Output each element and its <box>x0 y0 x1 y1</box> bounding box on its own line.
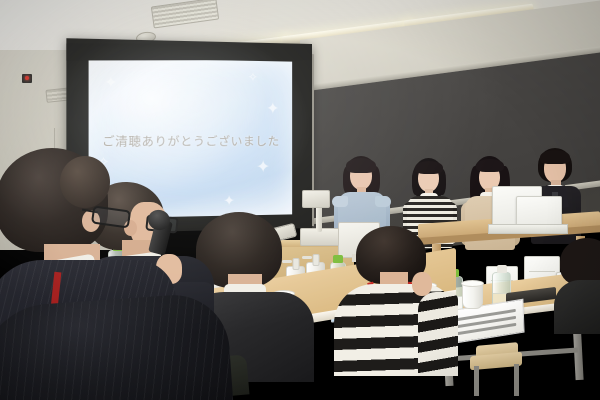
paper-cup-4 <box>462 282 483 309</box>
chair-right <box>470 344 526 396</box>
suit-fabric-sheen <box>0 291 234 400</box>
butterfly-icon: ✦ <box>266 102 280 118</box>
red-indicator-sensor-icon <box>22 74 32 83</box>
laptop-base <box>488 224 568 234</box>
overhead-projector-head <box>302 190 330 208</box>
audience-5 <box>560 238 600 328</box>
seminar-room-photo: ✦ ✧ ✦ ✧ ✦ ✧ ✦ ご清聴ありがとうございました <box>0 0 600 400</box>
audience-4-striped-sweater <box>334 226 454 376</box>
screen-top-mask <box>66 43 312 60</box>
butterfly-icon: ✧ <box>248 71 258 83</box>
butterfly-icon: ✦ <box>256 158 270 175</box>
butterfly-icon: ✦ <box>223 193 235 207</box>
butterfly-icon: ✦ <box>104 75 118 91</box>
